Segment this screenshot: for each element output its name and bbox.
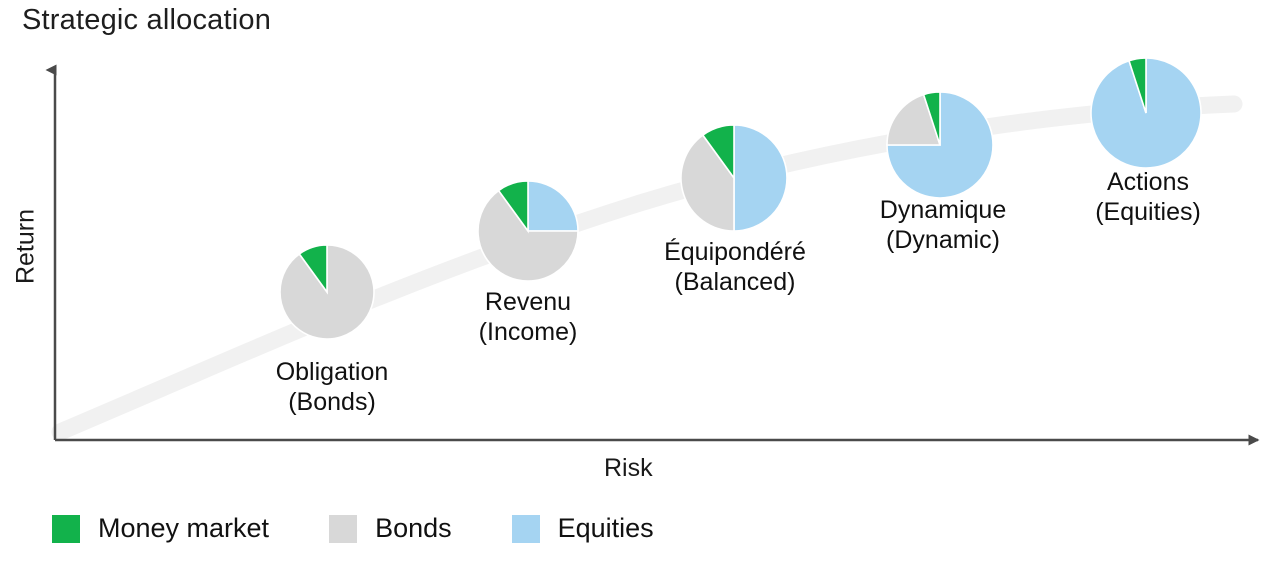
equities-swatch bbox=[512, 515, 540, 543]
pie-label-name-en: (Equities) bbox=[1095, 198, 1201, 228]
legend-label: Money market bbox=[98, 513, 269, 544]
pie-1 bbox=[280, 245, 374, 339]
legend-item-bonds[interactable]: Bonds bbox=[329, 513, 452, 544]
pie-label-3: Équipondéré(Balanced) bbox=[664, 238, 806, 297]
pie-label-name-fr: Revenu bbox=[479, 288, 578, 318]
pie-slice-equities bbox=[734, 125, 787, 231]
pie-label-name-en: (Bonds) bbox=[276, 388, 389, 418]
legend-label: Bonds bbox=[375, 513, 452, 544]
legend-item-money-market[interactable]: Money market bbox=[52, 513, 269, 544]
legend-label: Equities bbox=[558, 513, 654, 544]
bonds-swatch bbox=[329, 515, 357, 543]
legend-item-equities[interactable]: Equities bbox=[512, 513, 654, 544]
chart-canvas: Strategic allocation Return Risk Obligat… bbox=[0, 0, 1280, 585]
plot-area bbox=[0, 0, 1280, 585]
pie-4 bbox=[887, 92, 993, 198]
pie-label-name-en: (Dynamic) bbox=[880, 226, 1006, 256]
pie-label-name-fr: Dynamique bbox=[880, 196, 1006, 226]
money-market-swatch bbox=[52, 515, 80, 543]
pie-2 bbox=[478, 181, 578, 281]
pie-3 bbox=[681, 125, 787, 231]
y-axis-label: Return bbox=[12, 197, 41, 297]
pie-label-4: Dynamique(Dynamic) bbox=[880, 196, 1006, 255]
axis-lines bbox=[55, 70, 1258, 440]
pie-label-2: Revenu(Income) bbox=[479, 288, 578, 347]
risk-return-curve bbox=[60, 104, 1234, 432]
pie-label-1: Obligation(Bonds) bbox=[276, 358, 389, 417]
pie-label-name-fr: Obligation bbox=[276, 358, 389, 388]
chart-legend: Money marketBondsEquities bbox=[52, 513, 714, 544]
pie-slice-equities bbox=[528, 181, 578, 231]
pie-5 bbox=[1091, 58, 1201, 168]
pie-label-name-en: (Balanced) bbox=[664, 268, 806, 298]
pie-label-5: Actions(Equities) bbox=[1095, 168, 1201, 227]
pie-label-name-en: (Income) bbox=[479, 318, 578, 348]
pie-label-name-fr: Équipondéré bbox=[664, 238, 806, 268]
pie-label-name-fr: Actions bbox=[1095, 168, 1201, 198]
x-axis-label: Risk bbox=[604, 454, 653, 483]
